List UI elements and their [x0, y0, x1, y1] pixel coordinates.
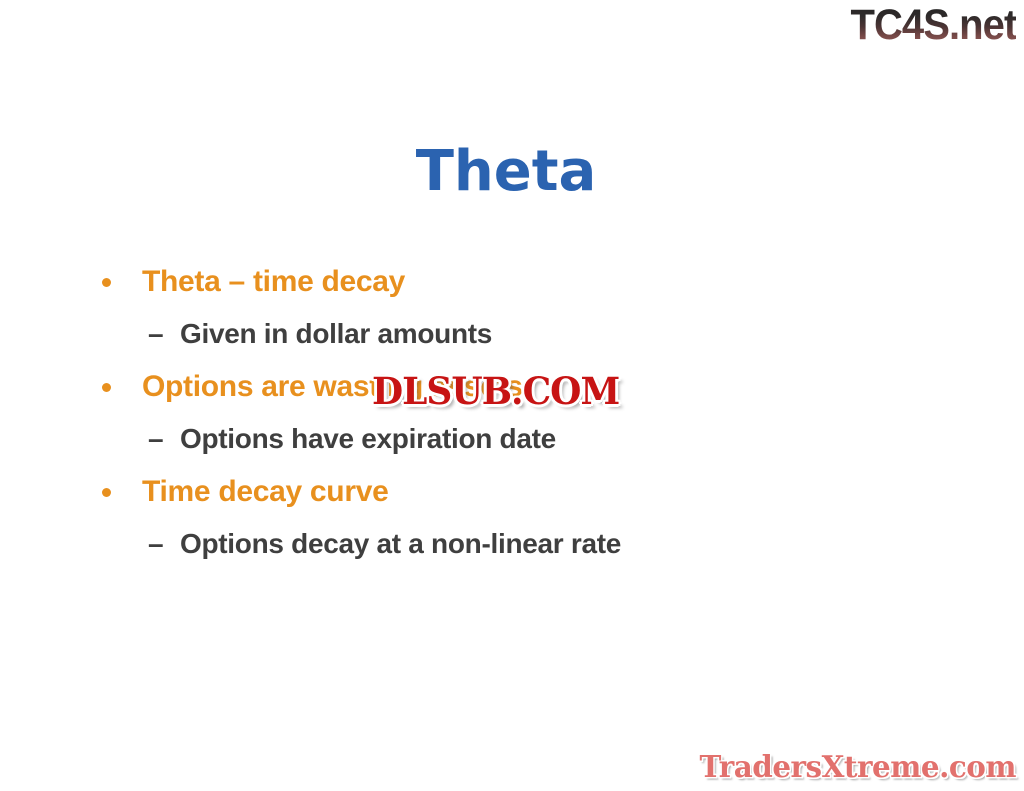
bullet-dot-icon	[102, 278, 111, 287]
footer-logo-tradersxtreme: TradersXtreme.com	[699, 751, 1016, 785]
slide-canvas: TC4S.net Theta Theta – time decay – Give…	[0, 0, 1024, 791]
page-title: Theta	[0, 141, 1024, 203]
list-item-label: Given in dollar amounts	[180, 318, 492, 349]
list-item: – Options decay at a non-linear rate	[96, 518, 946, 570]
list-item-label: Time decay curve	[142, 475, 388, 508]
en-dash-icon: –	[148, 308, 163, 360]
list-item: Time decay curve	[96, 465, 946, 518]
list-item: – Given in dollar amounts	[96, 308, 946, 360]
brand-logo-tc4s: TC4S.net	[850, 4, 1016, 47]
bullet-dot-icon	[102, 383, 111, 392]
en-dash-icon: –	[148, 518, 163, 570]
watermark-dlsub: DLSUB.COM	[372, 371, 619, 411]
bullet-dot-icon	[102, 488, 111, 497]
list-item-label: Theta – time decay	[142, 265, 405, 298]
list-item: Theta – time decay	[96, 255, 946, 308]
list-item: – Options have expiration date	[96, 413, 946, 465]
list-item-label: Options have expiration date	[180, 423, 556, 454]
list-item-label: Options decay at a non-linear rate	[180, 528, 621, 559]
en-dash-icon: –	[148, 413, 163, 465]
